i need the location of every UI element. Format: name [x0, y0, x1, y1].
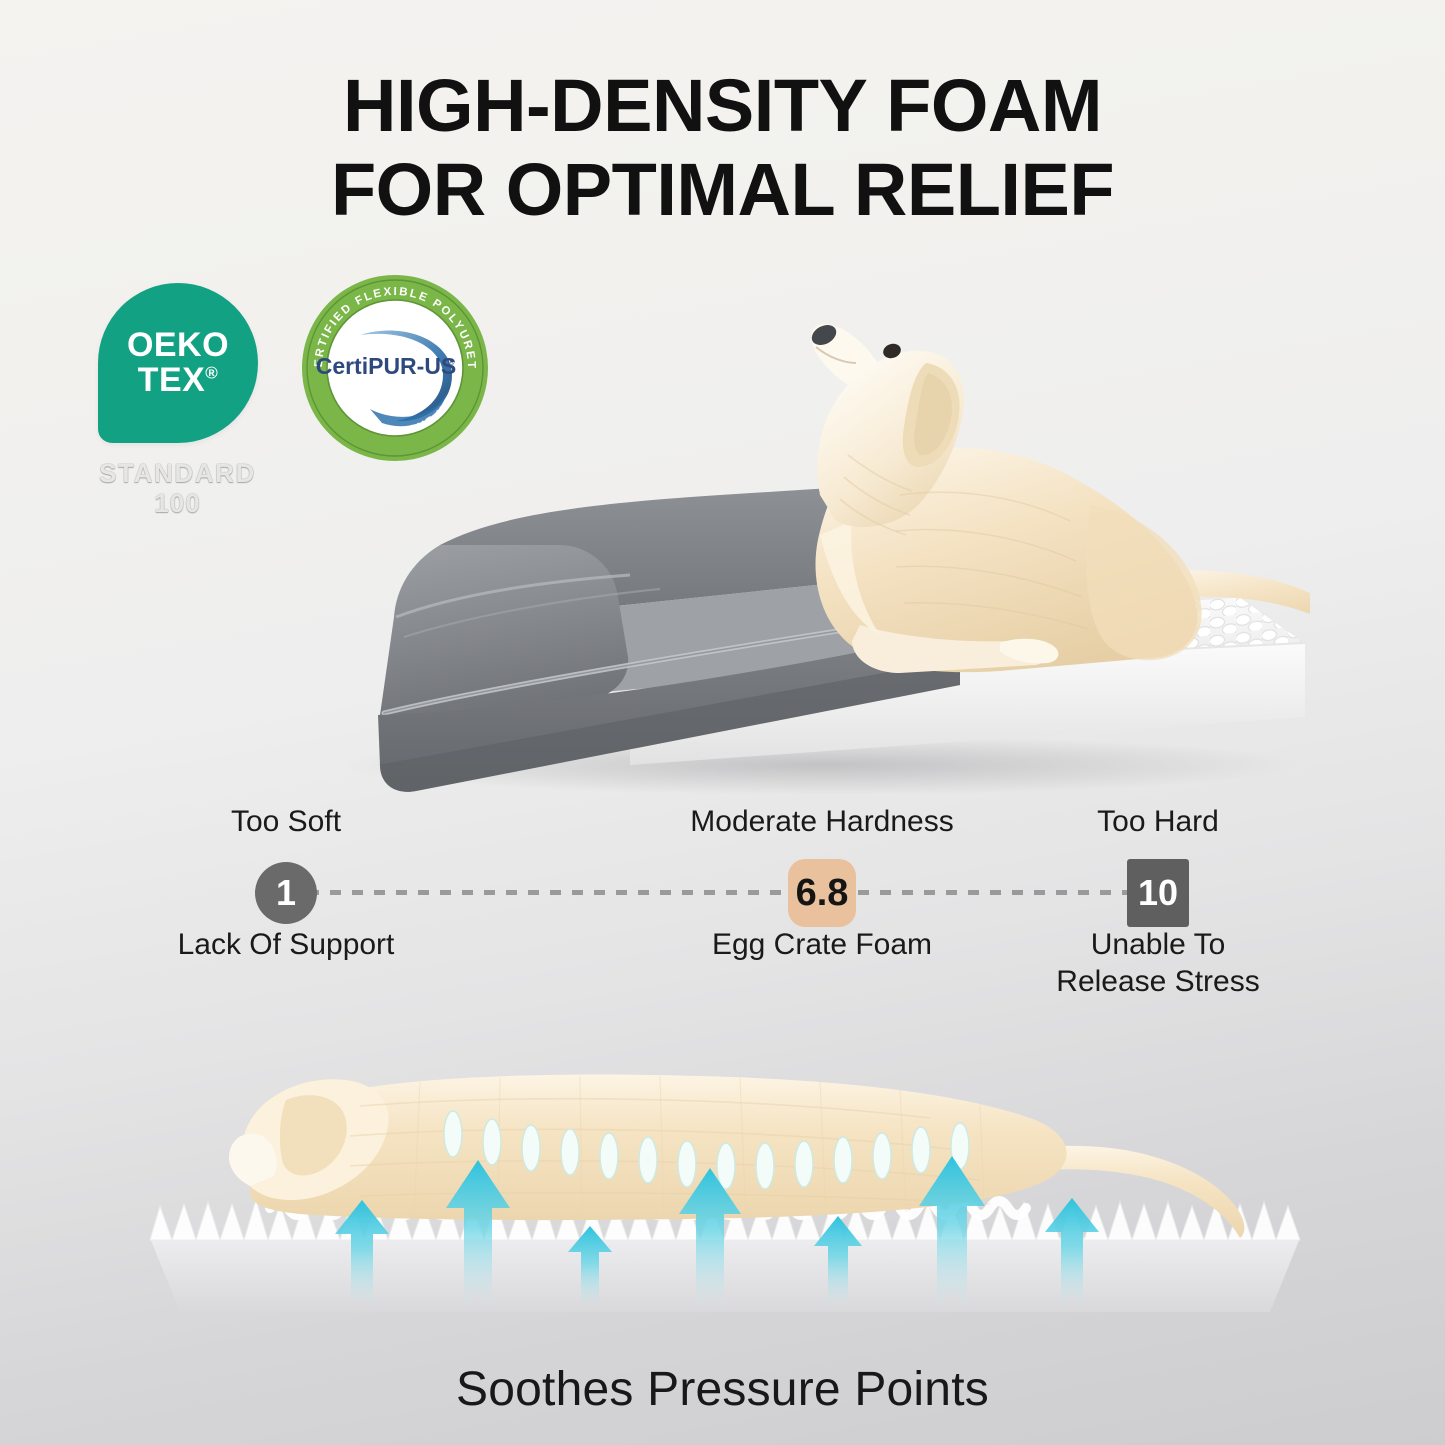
oeko-tex-line-2: TEX®: [138, 363, 219, 398]
headline-line-2: FOR OPTIMAL RELIEF: [0, 148, 1445, 232]
scale-bottom-label-3-line1: Unable To: [1056, 927, 1259, 964]
scale-marker-1: 1: [255, 862, 317, 924]
dog-on-foam-with-arrows: [0, 990, 1445, 1350]
oeko-standard-number: 100: [90, 489, 265, 519]
oeko-tex-line-1: OEKO: [127, 328, 229, 363]
product-photo: [300, 245, 1310, 805]
oeko-tex-standard-label: STANDARD 100: [90, 459, 265, 519]
oeko-tex-badge: OEKO TEX® STANDARD 100: [98, 283, 258, 533]
scale-top-label-3: Too Hard: [1097, 805, 1219, 839]
scale-marker-value-1: 1: [276, 872, 296, 914]
scale-top-label-2: Moderate Hardness: [690, 805, 953, 839]
oeko-tex-droplet-icon: OEKO TEX®: [98, 283, 258, 443]
scale-marker-value-3: 10: [1138, 872, 1178, 914]
scale-bottom-label-2: Egg Crate Foam: [712, 927, 932, 964]
scale-connector-line: [286, 890, 1160, 895]
scale-bottom-label-1: Lack Of Support: [178, 927, 395, 964]
scale-marker-value-2: 6.8: [796, 872, 849, 915]
firmness-scale: Too Soft 1 Lack Of Support Moderate Hard…: [0, 805, 1445, 995]
scale-marker-3: 10: [1127, 859, 1189, 927]
headline-line-1: HIGH-DENSITY FOAM: [343, 64, 1102, 147]
oeko-standard-text: STANDARD: [90, 459, 265, 489]
dog-on-bolster-bed-illustration: [300, 245, 1310, 805]
scale-top-label-1: Too Soft: [231, 805, 341, 839]
infographic-root: HIGH-DENSITY FOAM FOR OPTIMAL RELIEF OEK…: [0, 0, 1445, 1445]
bottom-caption: Soothes Pressure Points: [0, 1362, 1445, 1417]
pressure-relief-illustration: [0, 990, 1445, 1350]
scale-marker-2: 6.8: [788, 859, 856, 927]
page-title: HIGH-DENSITY FOAM FOR OPTIMAL RELIEF: [0, 64, 1445, 231]
